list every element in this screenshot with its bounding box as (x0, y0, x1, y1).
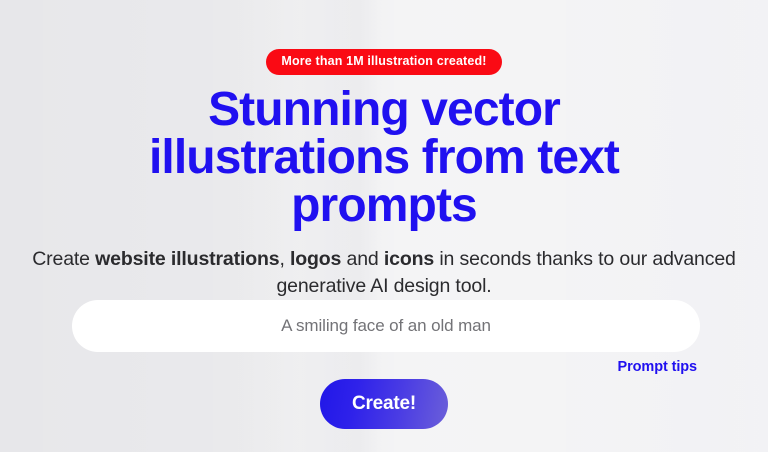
page-subtitle: Create website illustrations, logos and … (0, 246, 768, 300)
status-badge: More than 1M illustration created! (266, 49, 501, 75)
page-title: Stunning vector illustrations from text … (0, 86, 768, 230)
badge-row: More than 1M illustration created! (0, 49, 768, 75)
subtitle-text-2: , (279, 248, 290, 270)
page-title-line-3: prompts (0, 182, 768, 230)
subtitle-bold-logos: logos (290, 248, 341, 270)
create-button[interactable]: Create! (320, 379, 448, 429)
prompt-tips-link[interactable]: Prompt tips (618, 359, 697, 375)
subtitle-bold-icons: icons (384, 248, 434, 270)
prompt-input[interactable] (72, 300, 700, 352)
page-title-line-2: illustrations from text (0, 134, 768, 182)
subtitle-text-1: Create (32, 248, 95, 270)
page-title-line-1: Stunning vector (0, 86, 768, 134)
hero-section: More than 1M illustration created! Stunn… (0, 0, 768, 452)
subtitle-text-3: and (341, 248, 384, 270)
subtitle-bold-website-illustrations: website illustrations (95, 248, 279, 270)
create-button-row: Create! (0, 379, 768, 429)
